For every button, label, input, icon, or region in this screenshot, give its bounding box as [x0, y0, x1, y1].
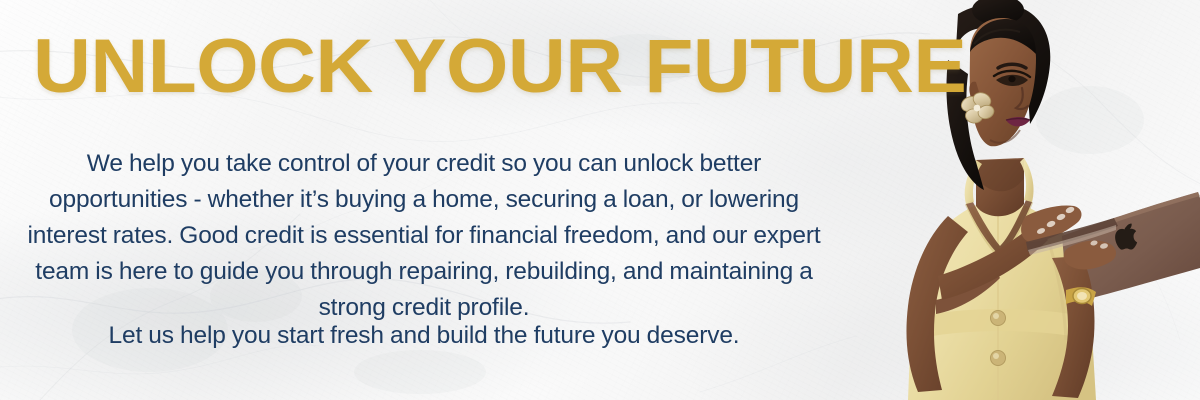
text-content: UNLOCK YOUR FUTURE We help you take cont… — [0, 0, 850, 400]
body-paragraph: We help you take control of your credit … — [24, 146, 824, 326]
closing-statement: Let us help you start fresh and build th… — [24, 320, 824, 352]
promo-banner: UNLOCK YOUR FUTURE We help you take cont… — [0, 0, 1200, 400]
page-title: UNLOCK YOUR FUTURE — [33, 28, 972, 106]
